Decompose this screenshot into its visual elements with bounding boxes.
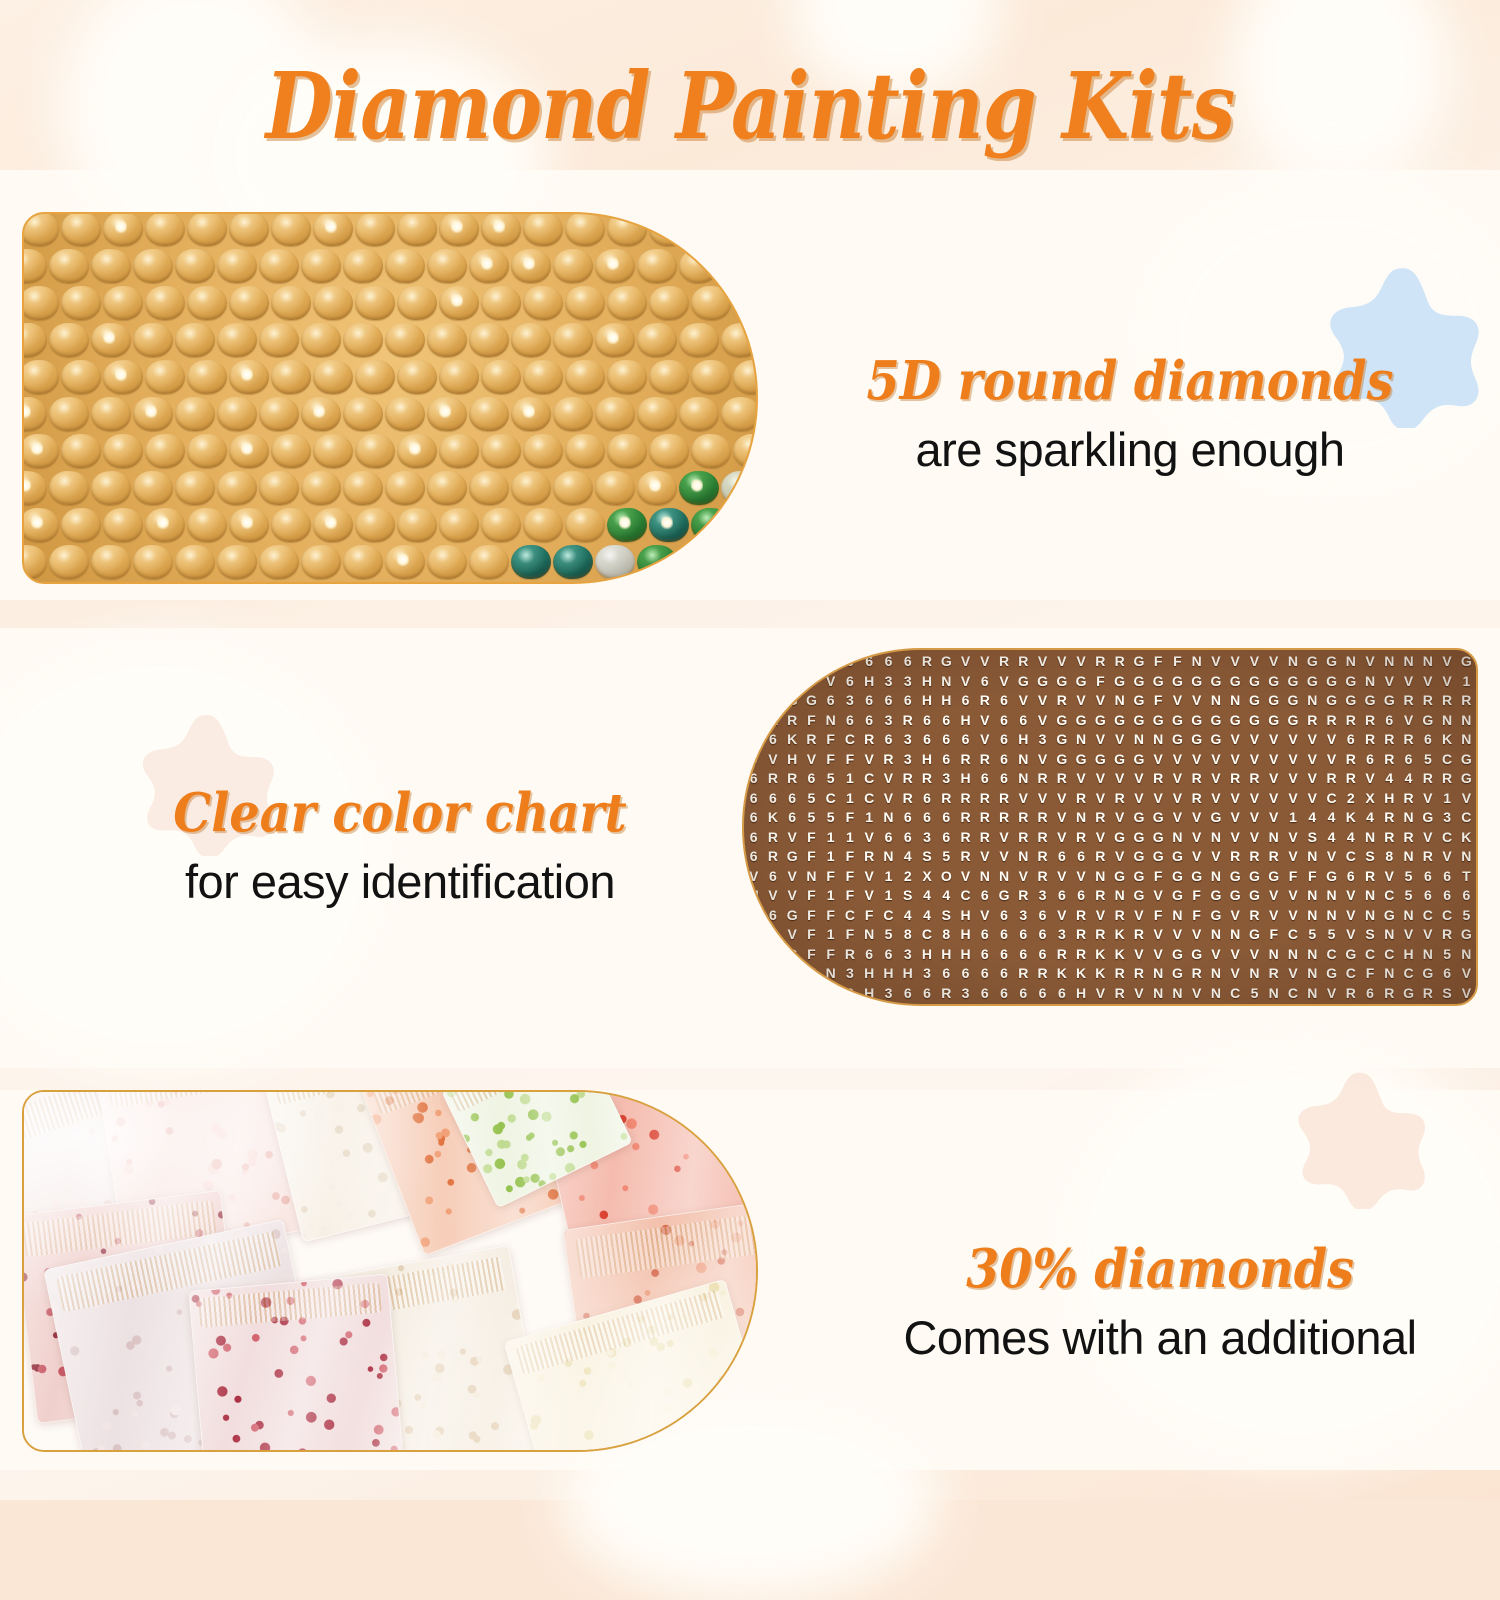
symbol-cell: R [1380, 828, 1399, 848]
symbol-cell: V [1187, 984, 1206, 1004]
symbol-cell: V [1283, 789, 1302, 809]
symbol-cell: R [1014, 828, 1033, 848]
symbol-cell: N [1110, 886, 1129, 906]
symbol-cell: V [763, 945, 782, 965]
symbol-cell: R [1399, 789, 1418, 809]
symbol-cell: G [783, 945, 802, 965]
symbol-cell: R [1071, 945, 1090, 965]
symbol-cell: 6 [879, 828, 898, 848]
symbol-cell: 5 [937, 847, 956, 867]
symbol-cell: R [1380, 808, 1399, 828]
symbol-cell: H [821, 652, 840, 672]
symbol-cell: 3 [879, 672, 898, 692]
symbol-cell: R [1168, 1003, 1187, 1006]
symbol-cell: N [975, 867, 994, 887]
symbol-cell: F [1168, 652, 1187, 672]
symbol-cell: 6 [744, 847, 763, 867]
symbol-cell: V [1149, 750, 1168, 770]
symbol-cell: G [1245, 867, 1264, 887]
symbol-cell: V [1187, 808, 1206, 828]
symbol-cell: 6 [994, 691, 1013, 711]
symbol-cell: V [1399, 672, 1418, 692]
symbol-cell: V [994, 672, 1013, 692]
symbol-cell: G [1129, 672, 1148, 692]
symbol-cell: G [1168, 964, 1187, 984]
symbol-cell: G [1110, 672, 1129, 692]
symbol-cell: V [744, 867, 763, 887]
symbol-cell: N [1206, 984, 1225, 1004]
symbol-cell: R [917, 652, 936, 672]
feature-headline: 5D round diamonds [842, 350, 1418, 412]
symbol-cell: F [1149, 867, 1168, 887]
symbol-cell: G [1110, 711, 1129, 731]
symbol-cell: H [898, 964, 917, 984]
symbol-cell: V [744, 964, 763, 984]
symbol-cell: G [1206, 808, 1225, 828]
symbol-cell: V [956, 652, 975, 672]
symbol-cell: G [1149, 847, 1168, 867]
symbol-cell: V [1129, 769, 1148, 789]
symbol-cell: N [1206, 867, 1225, 887]
symbol-cell: F [783, 984, 802, 1004]
feature-image-extra-diamonds [22, 1090, 758, 1452]
symbol-cell: 5 [1437, 945, 1456, 965]
symbol-cell: 6 [917, 730, 936, 750]
symbol-cell: N [1303, 964, 1322, 984]
symbol-cell: 6 [1437, 886, 1456, 906]
symbol-cell: G [1380, 906, 1399, 926]
symbol-cell: F [840, 867, 859, 887]
symbol-cell: V [1071, 769, 1090, 789]
symbol-cell: V [1187, 750, 1206, 770]
symbol-cell: G [1071, 672, 1090, 692]
symbol-cell: 6 [763, 691, 782, 711]
symbol-cell: V [763, 886, 782, 906]
symbol-cell: V [1226, 828, 1245, 848]
symbol-cell: R [994, 652, 1013, 672]
pink-star-icon [1288, 1064, 1433, 1209]
symbol-cell: 6 [937, 711, 956, 731]
symbol-cell: 4 [1341, 828, 1360, 848]
symbol-cell: N [1149, 984, 1168, 1004]
symbol-cell: 4 [1399, 769, 1418, 789]
symbol-cell: N [1457, 847, 1476, 867]
symbol-cell: N [1187, 652, 1206, 672]
symbol-cell: C [1341, 847, 1360, 867]
symbol-cell: F [802, 847, 821, 867]
symbol-cell: G [1245, 886, 1264, 906]
symbol-cell: N [1457, 711, 1476, 731]
symbol-cell: 3 [1052, 925, 1071, 945]
symbol-cell: 6 [744, 828, 763, 848]
symbol-cell: R [994, 808, 1013, 828]
symbol-cell: H [744, 691, 763, 711]
symbol-cell: 6 [1380, 711, 1399, 731]
symbol-cell: S [917, 847, 936, 867]
symbol-cell: 3 [1437, 808, 1456, 828]
symbol-cell: V [1226, 730, 1245, 750]
symbol-cell: 3 [898, 750, 917, 770]
symbol-cell: 6 [937, 750, 956, 770]
symbol-cell: F [840, 925, 859, 945]
symbol-cell: 6 [860, 691, 879, 711]
symbol-cell: G [1380, 1003, 1399, 1006]
symbol-cell: N [1399, 906, 1418, 926]
symbol-cell: R [956, 789, 975, 809]
symbol-cell: G [1071, 750, 1090, 770]
symbol-cell: 6 [898, 828, 917, 848]
symbol-cell: V [783, 828, 802, 848]
symbol-cell: 5 [879, 925, 898, 945]
symbol-cell: 6 [898, 691, 917, 711]
symbol-cell: 4 [1322, 808, 1341, 828]
symbol-cell: R [1014, 652, 1033, 672]
symbol-cell: N [860, 925, 879, 945]
symbol-cell: V [1245, 750, 1264, 770]
symbol-cell: R [1264, 964, 1283, 984]
symbol-cell: V [1264, 808, 1283, 828]
symbol-cell: 6 [917, 789, 936, 809]
symbol-cell: V [1283, 847, 1302, 867]
symbol-cell: C [1322, 789, 1341, 809]
symbol-cell: V [1110, 808, 1129, 828]
symbol-cell: V [860, 886, 879, 906]
symbol-cell: 5 [1418, 750, 1437, 770]
symbol-cell: K [1071, 964, 1090, 984]
symbol-cell: V [1264, 750, 1283, 770]
symbol-cell: 6 [783, 789, 802, 809]
symbol-cell: C [1283, 925, 1302, 945]
symbol-cell: 6 [744, 789, 763, 809]
symbol-cell: G [1168, 867, 1187, 887]
feature-headline: Clear color chart [121, 782, 679, 844]
symbol-cell: R [1399, 691, 1418, 711]
symbol-cell: N [1245, 964, 1264, 984]
symbol-cell: R [1033, 867, 1052, 887]
feature-image-color-chart: N6V6H6666RGVVRRVVVRRGFFNVVVVNGGNVNNNVGoV… [742, 648, 1478, 1006]
symbol-cell: 6 [763, 906, 782, 926]
symbol-cell: H [879, 964, 898, 984]
symbol-cell: G [1341, 945, 1360, 965]
symbol-cell: 6 [879, 691, 898, 711]
symbol-cell: N [1283, 652, 1302, 672]
symbol-cell: 6 [879, 730, 898, 750]
symbol-cell: O [937, 867, 956, 887]
symbol-cell: V [1245, 1003, 1264, 1006]
symbol-cell: X [917, 867, 936, 887]
symbol-cell: V [1341, 886, 1360, 906]
symbol-cell: V [975, 652, 994, 672]
symbol-cell: N [1264, 984, 1283, 1004]
symbol-cell: V [1283, 906, 1302, 926]
symbol-cell: 6 [975, 945, 994, 965]
symbol-cell: R [956, 828, 975, 848]
symbol-cell: G [1283, 711, 1302, 731]
symbol-cell: 6 [937, 828, 956, 848]
symbol-cell: R [1303, 711, 1322, 731]
symbol-cell: R [1360, 867, 1379, 887]
symbol-cell: G [1206, 730, 1225, 750]
symbol-cell: 6 [937, 808, 956, 828]
symbol-cell: V [1052, 867, 1071, 887]
symbol-cell: G [1457, 925, 1476, 945]
symbol-cell: 6 [1437, 867, 1456, 887]
symbol-cell: 1 [821, 925, 840, 945]
symbol-cell: R [1052, 945, 1071, 965]
symbol-cell: F [840, 750, 859, 770]
symbol-cell: G [1033, 672, 1052, 692]
symbol-cell: 6 [975, 769, 994, 789]
symbol-cell: F [821, 750, 840, 770]
symbol-cell: K [1457, 828, 1476, 848]
symbol-cell: V [802, 750, 821, 770]
symbol-cell: 6 [1033, 906, 1052, 926]
symbol-cell: R [763, 769, 782, 789]
symbol-cell: G [1322, 672, 1341, 692]
symbol-cell: R [1187, 964, 1206, 984]
symbol-cell: G [1206, 906, 1225, 926]
symbol-cell: H [860, 964, 879, 984]
symbol-cell: N [1457, 730, 1476, 750]
symbol-cell: G [1129, 828, 1148, 848]
symbol-cell: V [1380, 672, 1399, 692]
symbol-cell: G [1091, 750, 1110, 770]
symbol-cell: R [1437, 925, 1456, 945]
symbol-cell: S [1303, 828, 1322, 848]
symbol-cell: V [1322, 847, 1341, 867]
symbol-cell: H [994, 1003, 1013, 1006]
symbol-cell: N [1014, 769, 1033, 789]
bag-zip-strip [198, 1283, 382, 1328]
symbol-cell: R [879, 750, 898, 770]
symbol-cell: 6 [1418, 730, 1437, 750]
symbol-cell: V [1033, 750, 1052, 770]
symbol-cell: G [1226, 672, 1245, 692]
symbol-cell: 1 [840, 789, 859, 809]
symbol-cell: V [1245, 730, 1264, 750]
symbol-cell: G [1264, 691, 1283, 711]
symbol-cell: F [1149, 691, 1168, 711]
symbol-cell: R [1071, 925, 1090, 945]
symbol-cell: C [1283, 984, 1302, 1004]
symbol-cell: V [1264, 789, 1283, 809]
symbol-cell: V [1052, 828, 1071, 848]
symbol-cell: R [1226, 769, 1245, 789]
symbol-cell: V [1091, 828, 1110, 848]
symbol-cell: G [1052, 711, 1071, 731]
symbol-cell: V [1283, 730, 1302, 750]
symbol-cell: 6 [898, 808, 917, 828]
symbol-cell: R [1341, 750, 1360, 770]
symbol-cell: N [1071, 808, 1090, 828]
symbol-cell: G [1129, 808, 1148, 828]
symbol-cell: T [1457, 867, 1476, 887]
symbol-cell: R [975, 750, 994, 770]
symbol-cell: 3 [917, 1003, 936, 1006]
symbol-cell: N [1071, 730, 1090, 750]
symbol-cell: X [1360, 789, 1379, 809]
symbol-cell: R [1091, 847, 1110, 867]
symbol-cell: H [744, 711, 763, 731]
symbol-cell: 6 [975, 984, 994, 1004]
symbol-cell: N [1168, 828, 1187, 848]
symbol-cell: V [1303, 730, 1322, 750]
symbol-cell: V [1033, 691, 1052, 711]
symbol-cell: H [1071, 984, 1090, 1004]
symbol-cell: V [994, 828, 1013, 848]
symbol-cell: R [1360, 730, 1379, 750]
symbol-cell: R [898, 769, 917, 789]
symbol-cell: V [1399, 925, 1418, 945]
symbol-cell: 6 [1033, 945, 1052, 965]
symbol-cell: V [1264, 652, 1283, 672]
symbol-cell: N [1264, 1003, 1283, 1006]
symbol-cell: V [1303, 789, 1322, 809]
symbol-cell: R [1091, 652, 1110, 672]
symbol-cell: V [1341, 925, 1360, 945]
symbol-cell: R [1052, 769, 1071, 789]
symbol-cell: V [1129, 789, 1148, 809]
symbol-cell: V [1033, 789, 1052, 809]
symbol-cell: 6 [744, 750, 763, 770]
symbol-cell: N [1380, 652, 1399, 672]
symbol-cell: V [1360, 769, 1379, 789]
symbol-cell: R [975, 691, 994, 711]
symbol-cell: C [860, 789, 879, 809]
symbol-cell: V [860, 750, 879, 770]
symbol-cell: V [1206, 652, 1225, 672]
symbol-cell: N [1360, 672, 1379, 692]
symbol-cell: 6 [802, 769, 821, 789]
symbol-cell: F [802, 711, 821, 731]
symbol-cell: N [1206, 1003, 1225, 1006]
symbol-cell: V [1457, 964, 1476, 984]
symbol-cell: V [1226, 789, 1245, 809]
symbol-cell: K [1091, 945, 1110, 965]
symbol-cell: H [917, 672, 936, 692]
symbol-cell: 6 [898, 984, 917, 1004]
symbol-cell: V [1303, 769, 1322, 789]
symbol-cell: V [879, 769, 898, 789]
symbol-cell: N [1110, 691, 1129, 711]
symbol-cell: K [1110, 925, 1129, 945]
symbol-cell: V [1091, 906, 1110, 926]
symbol-cell: 6 [975, 672, 994, 692]
symbol-cell: V [1206, 750, 1225, 770]
symbol-cell: R [783, 769, 802, 789]
symbol-cell: H [937, 691, 956, 711]
symbol-cell: G [1283, 691, 1302, 711]
symbol-cell: 6 [744, 769, 763, 789]
symbol-cell: N [879, 808, 898, 828]
symbol-cell: V [1149, 925, 1168, 945]
symbol-cell: 3 [937, 769, 956, 789]
symbol-cell: 6 [956, 691, 975, 711]
symbol-cell: N [1380, 964, 1399, 984]
symbol-cell: N [1437, 711, 1456, 731]
symbol-cell: R [1071, 906, 1090, 926]
symbol-cell: R [1110, 984, 1129, 1004]
symbol-cell: S [1360, 847, 1379, 867]
symbol-cell: C [1437, 750, 1456, 770]
symbol-cell: V [821, 672, 840, 692]
symbol-cell: 4 [898, 906, 917, 926]
symbol-cell: F [802, 925, 821, 945]
symbol-cell: R [1014, 808, 1033, 828]
symbol-cell: R [1149, 769, 1168, 789]
symbol-cell: H [1399, 945, 1418, 965]
symbol-cell: F [1149, 906, 1168, 926]
symbol-cell: 6 [1071, 886, 1090, 906]
symbol-cell: R [1457, 691, 1476, 711]
symbol-cell: 2 [1341, 789, 1360, 809]
symbol-cell: V [783, 652, 802, 672]
symbol-cell: 6 [763, 730, 782, 750]
symbol-cell: N [821, 964, 840, 984]
symbol-cell: 3 [956, 984, 975, 1004]
symbol-cell: R [1071, 789, 1090, 809]
symbol-cell: N [1457, 945, 1476, 965]
symbol-cell: R [1418, 984, 1437, 1004]
symbol-cell: 6 [917, 808, 936, 828]
symbol-cell: N [1303, 886, 1322, 906]
symbol-cell: V [1071, 652, 1090, 672]
symbol-cell: V [1014, 789, 1033, 809]
symbol-cell: R [1129, 925, 1148, 945]
symbol-cell: H [783, 750, 802, 770]
symbol-cell: F [1264, 925, 1283, 945]
symbol-cell: G [1341, 691, 1360, 711]
symbol-cell: V [879, 789, 898, 809]
symbol-cell: G [1418, 808, 1437, 828]
symbol-cell: G [1149, 672, 1168, 692]
bead-grains [189, 1275, 402, 1452]
symbol-cell: 6 [1149, 1003, 1168, 1006]
symbol-cell: 6 [1052, 847, 1071, 867]
symbol-cell: 6 [994, 906, 1013, 926]
symbol-cell: H [956, 711, 975, 731]
symbol-cell: V [1226, 945, 1245, 965]
symbol-cell: K [1014, 1003, 1033, 1006]
symbol-cell: R [1437, 691, 1456, 711]
symbol-cell: N [1303, 906, 1322, 926]
symbol-cell: F [840, 808, 859, 828]
symbol-cell: G [802, 691, 821, 711]
symbol-cell: R [1437, 769, 1456, 789]
symbol-cell: R [1033, 964, 1052, 984]
symbol-cell: R [937, 984, 956, 1004]
symbol-cell: N [1264, 828, 1283, 848]
symbol-cell: V [1052, 652, 1071, 672]
symbol-cell: N [1380, 925, 1399, 945]
symbol-cell: G [1341, 672, 1360, 692]
symbol-cell: 1 [1418, 1003, 1437, 1006]
symbol-cell: R [1418, 847, 1437, 867]
symbol-cell: 5 [1303, 925, 1322, 945]
feature-subline: for easy identification [90, 854, 710, 909]
symbol-cell: G [1168, 886, 1187, 906]
symbol-cell: V [1187, 691, 1206, 711]
symbol-cell: V [763, 672, 782, 692]
symbol-cell: V [1283, 828, 1302, 848]
symbol-cell: V [1149, 789, 1168, 809]
symbol-cell: K [1052, 1003, 1071, 1006]
symbol-cell: V [1187, 1003, 1206, 1006]
symbol-cell: R [937, 789, 956, 809]
symbol-cell: 5 [802, 789, 821, 809]
symbol-cell: G [1322, 964, 1341, 984]
symbol-cell: R [994, 789, 1013, 809]
